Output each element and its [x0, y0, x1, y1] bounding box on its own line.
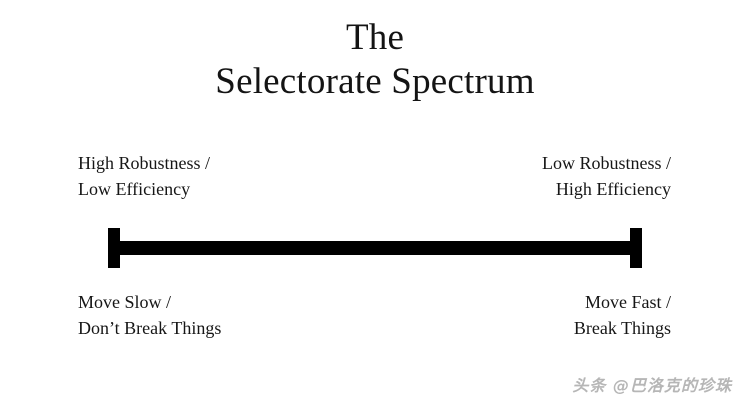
title-line-1: The	[0, 16, 750, 60]
left-endpoint-top-label: High Robustness / Low Efficiency	[78, 151, 210, 202]
watermark: 头条 @巴洛克的珍珠	[572, 372, 732, 396]
spectrum-bar	[108, 228, 642, 268]
title-line-2: Selectorate Spectrum	[0, 60, 750, 104]
right-endpoint-top-label: Low Robustness / High Efficiency	[542, 151, 671, 202]
slide-canvas: The Selectorate Spectrum High Robustness…	[0, 0, 750, 404]
spectrum-axis-line	[108, 241, 642, 255]
page-title: The Selectorate Spectrum	[0, 16, 750, 103]
left-endpoint-bottom-label: Move Slow / Don’t Break Things	[78, 290, 221, 341]
right-endpoint-bottom-label: Move Fast / Break Things	[574, 290, 671, 341]
spectrum-right-cap	[630, 228, 642, 268]
